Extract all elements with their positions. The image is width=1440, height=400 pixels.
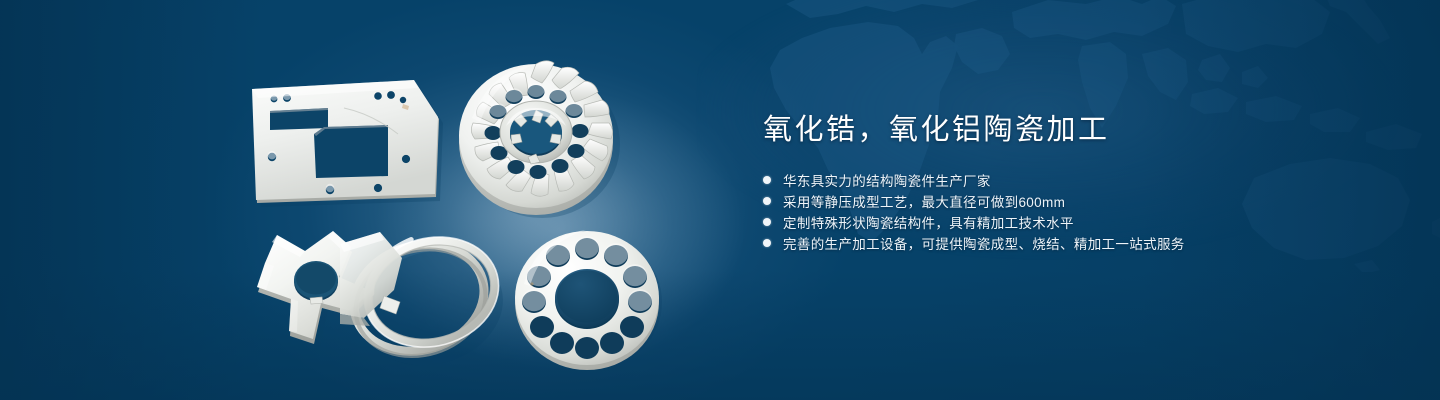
- hero-banner: 氧化锆，氧化铝陶瓷加工 华东具实力的结构陶瓷件生产厂家 采用等静压成型工艺，最大…: [0, 0, 1440, 400]
- bullet-dot-icon: [763, 239, 771, 247]
- list-item-label: 采用等静压成型工艺，最大直径可做到600mm: [783, 191, 1065, 211]
- feature-list: 华东具实力的结构陶瓷件生产厂家 采用等静压成型工艺，最大直径可做到600mm 定…: [763, 169, 1383, 253]
- list-item: 定制特殊形状陶瓷结构件，具有精加工技术水平: [763, 211, 1383, 232]
- ceramic-rings: [340, 222, 518, 368]
- page-title: 氧化锆，氧化铝陶瓷加工: [763, 112, 1383, 148]
- list-item-label: 完善的生产加工设备，可提供陶瓷成型、烧结、精加工一站式服务: [783, 233, 1185, 253]
- ceramic-impeller-wheel: [452, 48, 624, 224]
- perforated-ceramic-disc: [512, 222, 664, 374]
- bullet-dot-icon: [763, 176, 771, 184]
- list-item: 采用等静压成型工艺，最大直径可做到600mm: [763, 190, 1383, 211]
- list-item-label: 华东具实力的结构陶瓷件生产厂家: [783, 170, 991, 190]
- bullet-dot-icon: [763, 197, 771, 205]
- rectangular-ceramic-plate: [248, 78, 444, 204]
- bullet-dot-icon: [763, 218, 771, 226]
- list-item-label: 定制特殊形状陶瓷结构件，具有精加工技术水平: [783, 212, 1074, 232]
- list-item: 华东具实力的结构陶瓷件生产厂家: [763, 169, 1383, 190]
- banner-copy: 氧化锆，氧化铝陶瓷加工 华东具实力的结构陶瓷件生产厂家 采用等静压成型工艺，最大…: [763, 112, 1383, 253]
- list-item: 完善的生产加工设备，可提供陶瓷成型、烧结、精加工一站式服务: [763, 232, 1383, 253]
